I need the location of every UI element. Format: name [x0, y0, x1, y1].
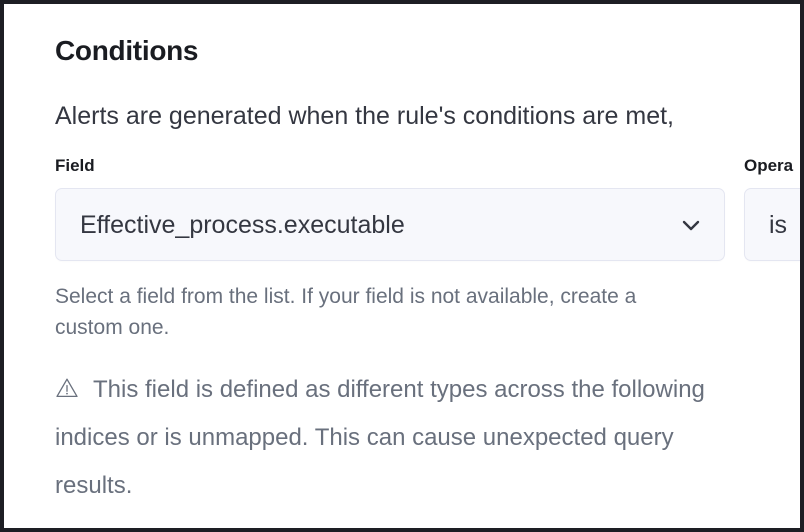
- chevron-down-icon[interactable]: [678, 212, 704, 238]
- operator-label: Opera: [744, 154, 804, 178]
- field-column: Field Effective_process.executable: [55, 154, 725, 261]
- warning-triangle-icon: [55, 376, 79, 400]
- field-select[interactable]: Effective_process.executable: [55, 188, 725, 261]
- operator-select-value: is: [769, 210, 804, 240]
- panel-description: Alerts are generated when the rule's con…: [55, 99, 674, 133]
- conditions-panel: Conditions Alerts are generated when the…: [55, 4, 804, 528]
- page-title: Conditions: [55, 34, 198, 68]
- field-type-warning: This field is defined as different types…: [55, 366, 705, 510]
- field-select-value: Effective_process.executable: [80, 210, 670, 240]
- field-helper-text: Select a field from the list. If your fi…: [55, 281, 695, 343]
- warning-message: This field is defined as different types…: [55, 376, 705, 499]
- condition-row: Field Effective_process.executable Opera…: [55, 154, 804, 274]
- operator-column: Opera is: [744, 154, 804, 261]
- field-label: Field: [55, 154, 725, 178]
- screenshot-viewport: Conditions Alerts are generated when the…: [0, 0, 804, 532]
- operator-select[interactable]: is: [744, 188, 804, 261]
